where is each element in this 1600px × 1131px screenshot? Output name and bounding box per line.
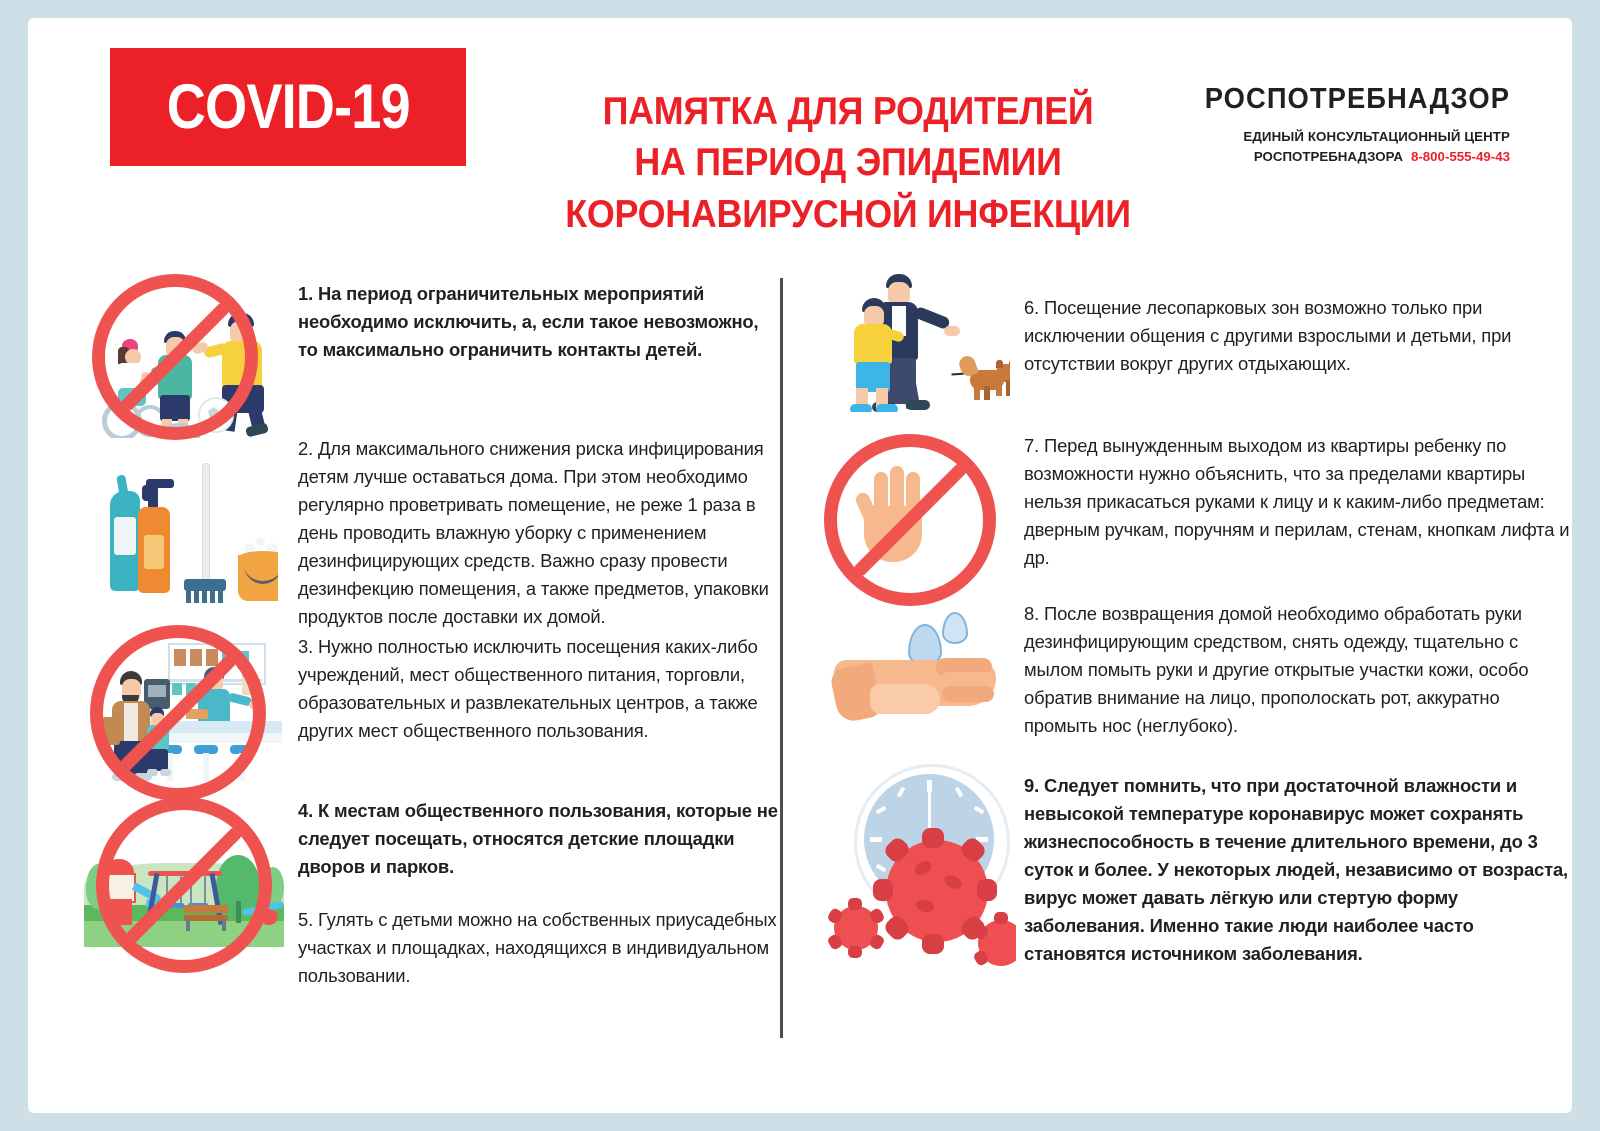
list-item-text: 6. Посещение лесопарковых зон возможно т… [1024, 268, 1572, 378]
consultation-center-line: ЕДИНЫЙ КОНСУЛЬТАЦИОННЫЙ ЦЕНТР [1090, 127, 1510, 146]
organization-genitive-label: РОСПОТРЕБНАДЗОРА [1254, 149, 1403, 164]
right-column: 6. Посещение лесопарковых зон возможно т… [780, 268, 1572, 1058]
list-item-text: 1. На период ограничительных мероприятий… [298, 268, 780, 364]
list-item-text-group: 4. К местам общественного пользования, к… [298, 787, 780, 990]
list-item: 3. Нужно полностью исключить посещения к… [84, 617, 780, 797]
list-item: 1. На период ограничительных мероприятий… [84, 268, 780, 443]
consultation-center-phone-line: РОСПОТРЕБНАДЗОРА8-800-555-49-43 [1090, 147, 1510, 166]
poster-header: COVID-19 ПАМЯТКА ДЛЯ РОДИТЕЛЕЙ НА ПЕРИОД… [28, 18, 1572, 258]
list-item-text: 3. Нужно полностью исключить посещения к… [298, 617, 780, 745]
children-playing-prohibited-icon [84, 268, 284, 443]
no-touching-hand-prohibited-icon [810, 422, 1010, 602]
clock-with-virus-icon [810, 750, 1010, 970]
playground-prohibited-icon [84, 787, 284, 977]
list-item-text: 5. Гулять с детьми можно на собственных … [298, 906, 780, 990]
family-walking-dog-icon [810, 268, 1010, 418]
cleaning-supplies-icon [84, 435, 284, 630]
list-item: 8. После возвращения домой необходимо об… [810, 596, 1572, 740]
covid19-badge: COVID-19 [110, 48, 466, 166]
left-column: 1. На период ограничительных мероприятий… [28, 268, 780, 1058]
list-item: 2. Для максимального снижения риска инфи… [84, 435, 780, 631]
list-item: 7. Перед вынужденным выходом из квартиры… [810, 422, 1572, 602]
list-item: 6. Посещение лесопарковых зон возможно т… [810, 268, 1572, 418]
organization-name: РОСПОТРЕБНАДЗОР [1107, 84, 1510, 115]
list-item: 9. Следует помнить, что при достаточной … [810, 750, 1572, 970]
hotline-phone-number[interactable]: 8-800-555-49-43 [1411, 149, 1510, 164]
hand-washing-water-drops-icon [810, 596, 1010, 736]
covid19-badge-label: COVID-19 [166, 76, 409, 139]
rospotrebnadzor-block: РОСПОТРЕБНАДЗОР ЕДИНЫЙ КОНСУЛЬТАЦИОННЫЙ … [1090, 84, 1510, 166]
list-item-text: 9. Следует помнить, что при достаточной … [1024, 750, 1572, 968]
page-title-line-3: КОРОНАВИРУСНОЙ ИНФЕКЦИИ [526, 189, 1170, 240]
page-title-line-2: НА ПЕРИОД ЭПИДЕМИИ [526, 137, 1170, 188]
list-item-text: 8. После возвращения домой необходимо об… [1024, 596, 1572, 740]
poster-card: COVID-19 ПАМЯТКА ДЛЯ РОДИТЕЛЕЙ НА ПЕРИОД… [28, 18, 1572, 1113]
page-title-line-1: ПАМЯТКА ДЛЯ РОДИТЕЛЕЙ [526, 86, 1170, 137]
list-item-text: 4. К местам общественного пользования, к… [298, 797, 780, 881]
content-columns: 1. На период ограничительных мероприятий… [28, 268, 1572, 1058]
list-item-text: 2. Для максимального снижения риска инфи… [298, 435, 780, 631]
list-item: 4. К местам общественного пользования, к… [84, 787, 780, 990]
list-item-text: 7. Перед вынужденным выходом из квартиры… [1024, 422, 1572, 572]
public-place-cafe-prohibited-icon [84, 617, 284, 797]
